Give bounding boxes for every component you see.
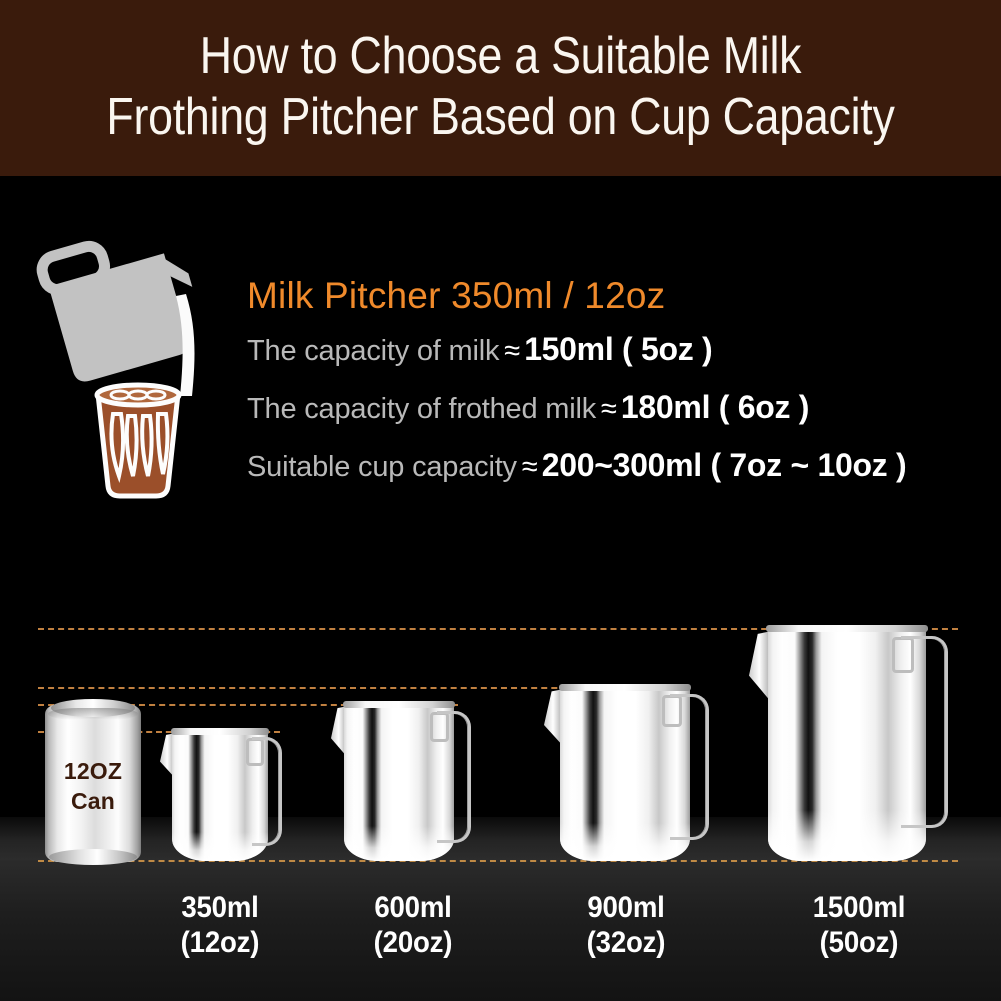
pitcher-600ml-graphic [344, 704, 454, 861]
approx-symbol: ≈ [517, 451, 542, 483]
spec-row-frothed-milk-capacity: The capacity of frothed milk≈180ml ( 6oz… [247, 387, 987, 434]
header-banner: How to Choose a Suitable Milk Frothing P… [0, 0, 1001, 176]
caption-900ml-ml: 900ml [562, 890, 691, 925]
can-label-line-2: Can [71, 788, 115, 814]
size-comparison-section: 12OZ Can [0, 606, 1001, 1001]
pitcher-600ml [344, 704, 454, 861]
spec-row-milk-capacity: The capacity of milk≈150ml ( 5oz ) [247, 329, 987, 376]
approx-symbol: ≈ [596, 393, 621, 425]
pitcher-rim [559, 684, 692, 691]
caption-350ml-ml: 350ml [156, 890, 285, 925]
caption-1500ml-ml: 1500ml [795, 890, 924, 925]
pitcher-handle [252, 737, 282, 846]
pitcher-rim [343, 701, 455, 708]
pitcher-rim [171, 728, 269, 735]
spec-text-block: Milk Pitcher 350ml / 12oz The capacity o… [247, 274, 987, 492]
pitcher-350ml [172, 731, 268, 861]
soda-can-12oz: 12OZ Can [45, 704, 141, 862]
caption-600ml-ml: 600ml [349, 890, 478, 925]
can-bottom [49, 849, 137, 865]
can-label-line-1: 12OZ [64, 758, 122, 784]
page-title-line-1: How to Choose a Suitable Milk [70, 26, 931, 87]
approx-symbol: ≈ [499, 335, 524, 367]
caption-600ml-oz: (20oz) [349, 925, 478, 960]
pitcher-900ml-graphic [560, 687, 690, 861]
can-label: 12OZ Can [45, 756, 141, 816]
caption-1500ml: 1500ml (50oz) [795, 890, 924, 960]
spec-row-suitable-cup-capacity: Suitable cup capacity≈200~300ml ( 7oz ~ … [247, 445, 987, 492]
pitcher-handle [670, 694, 709, 840]
spec-label-suitable-cup-capacity: Suitable cup capacity [247, 451, 517, 483]
can-neck [48, 708, 138, 720]
pitcher-handle [437, 711, 471, 843]
pitcher-rim [766, 625, 927, 632]
pitcher-1500ml-graphic [768, 628, 926, 861]
caption-900ml: 900ml (32oz) [562, 890, 691, 960]
pitcher-350ml-graphic [172, 731, 268, 861]
page-title: How to Choose a Suitable Milk Frothing P… [70, 26, 931, 148]
caption-350ml: 350ml (12oz) [156, 890, 285, 960]
pitcher-handle [901, 636, 948, 828]
pitcher-spec-section: Milk Pitcher 350ml / 12oz The capacity o… [0, 176, 1001, 606]
caption-900ml-oz: (32oz) [562, 925, 691, 960]
pouring-pitcher-icon [34, 236, 234, 506]
spec-heading: Milk Pitcher 350ml / 12oz [247, 274, 987, 318]
spec-label-frothed-milk-capacity: The capacity of frothed milk [247, 393, 596, 425]
caption-350ml-oz: (12oz) [156, 925, 285, 960]
caption-1500ml-oz: (50oz) [795, 925, 924, 960]
spec-value-suitable-cup-capacity: 200~300ml ( 7oz ~ 10oz ) [542, 447, 907, 483]
pitcher-900ml [560, 687, 690, 861]
spec-label-milk-capacity: The capacity of milk [247, 335, 499, 367]
page-title-line-2: Frothing Pitcher Based on Cup Capacity [70, 87, 931, 148]
pitcher-1500ml [768, 628, 926, 861]
caption-600ml: 600ml (20oz) [349, 890, 478, 960]
infographic-page: How to Choose a Suitable Milk Frothing P… [0, 0, 1001, 1001]
spec-value-milk-capacity: 150ml ( 5oz ) [524, 331, 712, 367]
spec-value-frothed-milk-capacity: 180ml ( 6oz ) [621, 389, 809, 425]
